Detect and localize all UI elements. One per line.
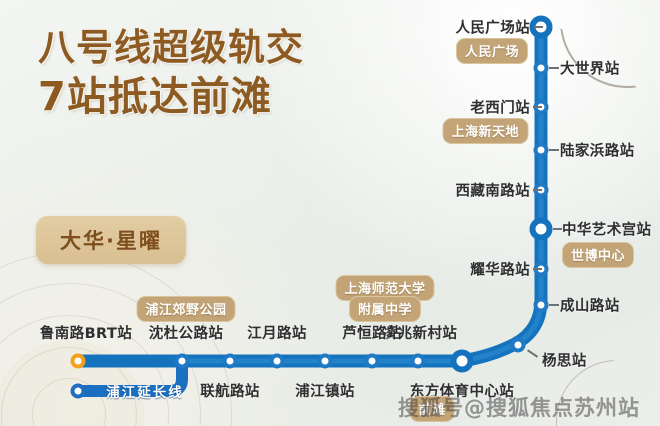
tick-zhonghua-yishu-gong: [553, 228, 562, 230]
poi-badge-fushu-zhongxue: 附属中学: [349, 296, 421, 322]
tick-yaohua-lu: [533, 268, 542, 270]
station-dot-lingzhao-xincun[interactable]: [411, 354, 426, 369]
station-label-chengshan-lu: 成山路站: [560, 295, 620, 316]
metro-map-poster: 八号线超级轨交 7站抵达前滩 大华·星曜: [0, 0, 660, 426]
branch-line-tag-pujiang-yanchangxian: 浦江延长线: [106, 381, 184, 401]
tick-dashijie: [549, 67, 559, 69]
station-label-renmin-guangchang: 人民广场站: [456, 17, 531, 38]
poi-badge-pujiang-jiaoye-gongyuan: 浦江郊野公园: [136, 296, 235, 322]
station-dot-dashijie[interactable]: [534, 61, 549, 76]
station-label-xizang-nan-lu: 西藏南路站: [456, 180, 531, 201]
station-dot-lianhang-lu[interactable]: [223, 354, 238, 369]
poi-badge-renmin-guangchang: 人民广场: [456, 38, 528, 64]
station-label-jiangyue-lu: 江月路站: [247, 322, 307, 343]
station-dot-jiangyue-lu[interactable]: [270, 354, 285, 369]
station-label-pujiang-zhen: 浦江镇站: [295, 380, 355, 401]
station-dot-lujiabang-lu[interactable]: [534, 143, 549, 158]
station-dot-pujiang-branch-terminus[interactable]: [71, 384, 86, 399]
station-dot-shendu-gonglu[interactable]: [175, 354, 190, 369]
station-dot-lunan-lu-brt[interactable]: [71, 354, 86, 369]
station-label-zhonghua-yishu-gong: 中华艺术宫站: [562, 219, 651, 240]
station-dot-yangsi[interactable]: [511, 338, 526, 353]
station-label-laoximen: 老西门站: [470, 97, 530, 118]
station-dot-zhonghua-yishu-gong[interactable]: [530, 218, 553, 241]
station-label-shendu-gonglu: 沈杜公路站: [149, 322, 224, 343]
station-dot-dongfang-tiyu-zhongxin[interactable]: [451, 350, 474, 373]
poi-badge-shibo-zhongxin: 世博中心: [562, 242, 634, 268]
station-label-yangsi: 杨思站: [542, 350, 587, 371]
station-dot-pujiang-zhen[interactable]: [318, 354, 333, 369]
station-label-lunan-lu-brt: 鲁南路BRT站: [40, 322, 132, 343]
tick-laoximen: [533, 106, 542, 108]
station-label-dashijie: 大世界站: [560, 58, 620, 79]
tick-chengshan-lu: [549, 304, 559, 306]
watermark-text: 搜狐号@搜狐焦点苏州站: [398, 392, 640, 422]
tick-xizang-nan-lu: [533, 189, 542, 191]
poi-badge-shanghai-xintiandi: 上海新天地: [442, 118, 528, 144]
station-dot-luheng-lu[interactable]: [365, 354, 380, 369]
tick-lujiabang-lu: [549, 149, 559, 151]
station-label-luheng-lu: 芦恒路站: [342, 322, 402, 343]
station-dot-chengshan-lu[interactable]: [534, 298, 549, 313]
station-label-lianhang-lu: 联航路站: [200, 380, 260, 401]
station-label-yaohua-lu: 耀华路站: [470, 259, 530, 280]
tick-renmin-guangchang: [534, 26, 543, 28]
station-label-lujiabang-lu: 陆家浜路站: [560, 140, 635, 161]
